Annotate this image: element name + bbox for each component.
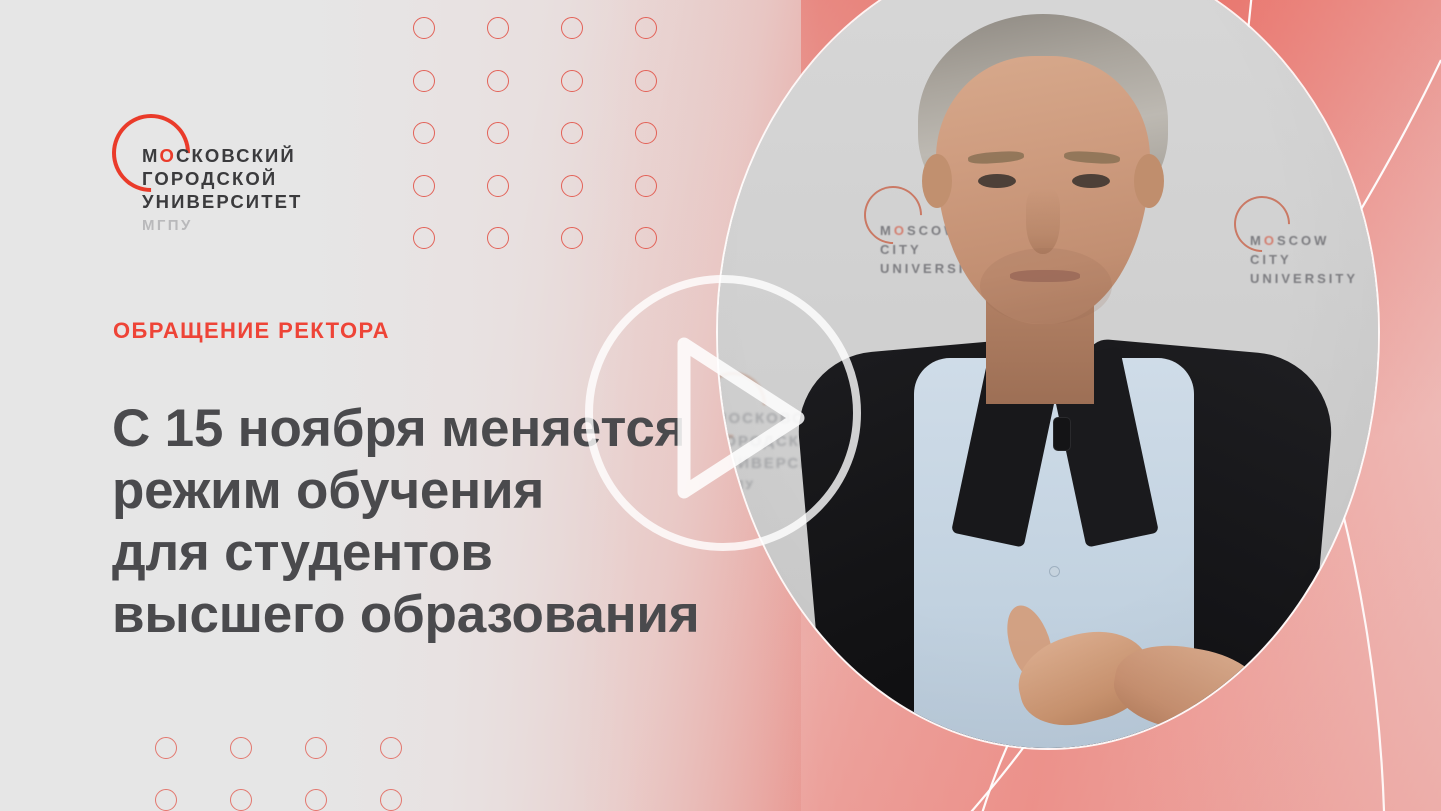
- kicker-label: ОБРАЩЕНИЕ РЕКТОРА: [113, 318, 390, 344]
- mgpu-logo-line-1: МОСКОВСКИЙ: [142, 144, 302, 167]
- decor-dot: [380, 789, 402, 811]
- mgpu-skovskiy: СКОВСКИЙ: [176, 145, 296, 166]
- play-button[interactable]: [585, 275, 861, 551]
- decor-dot: [487, 227, 509, 249]
- headline-line-4: высшего образования: [112, 584, 752, 646]
- decor-dot: [155, 789, 177, 811]
- decor-dot: [487, 175, 509, 197]
- decor-dot: [413, 17, 435, 39]
- decor-dot: [561, 122, 583, 144]
- decor-dot: [561, 70, 583, 92]
- decor-dot: [561, 175, 583, 197]
- decor-dot: [635, 70, 657, 92]
- mgpu-logo-line-3: УНИВЕРСИТЕТ: [142, 190, 302, 213]
- decor-dot: [305, 789, 327, 811]
- decor-dot: [487, 17, 509, 39]
- mgpu-logo-line-2: ГОРОДСКОЙ: [142, 167, 302, 190]
- mgpu-red-o: О: [160, 145, 177, 166]
- decor-dot: [635, 17, 657, 39]
- mgpu-logo-abbr: МГПУ: [142, 215, 302, 237]
- decor-dot: [487, 70, 509, 92]
- decor-dot: [487, 122, 509, 144]
- decor-dot: [413, 175, 435, 197]
- decor-dot: [413, 122, 435, 144]
- decor-dot: [230, 737, 252, 759]
- mgpu-logo-text: МОСКОВСКИЙ ГОРОДСКОЙ УНИВЕРСИТЕТ МГПУ: [142, 144, 302, 237]
- decor-dot: [230, 789, 252, 811]
- decor-dot: [155, 737, 177, 759]
- decor-dot: [413, 70, 435, 92]
- decor-dot: [635, 227, 657, 249]
- decor-dot: [413, 227, 435, 249]
- decor-dot: [635, 122, 657, 144]
- decor-dot: [561, 17, 583, 39]
- decor-dot: [380, 737, 402, 759]
- mgpu-m: М: [142, 145, 160, 166]
- decor-dot: [305, 737, 327, 759]
- video-cover-card: MOSCOW CITY UNIVERSITY MOSCOW CITY UNIVE…: [0, 0, 1441, 811]
- decor-dot: [635, 175, 657, 197]
- decor-dot: [561, 227, 583, 249]
